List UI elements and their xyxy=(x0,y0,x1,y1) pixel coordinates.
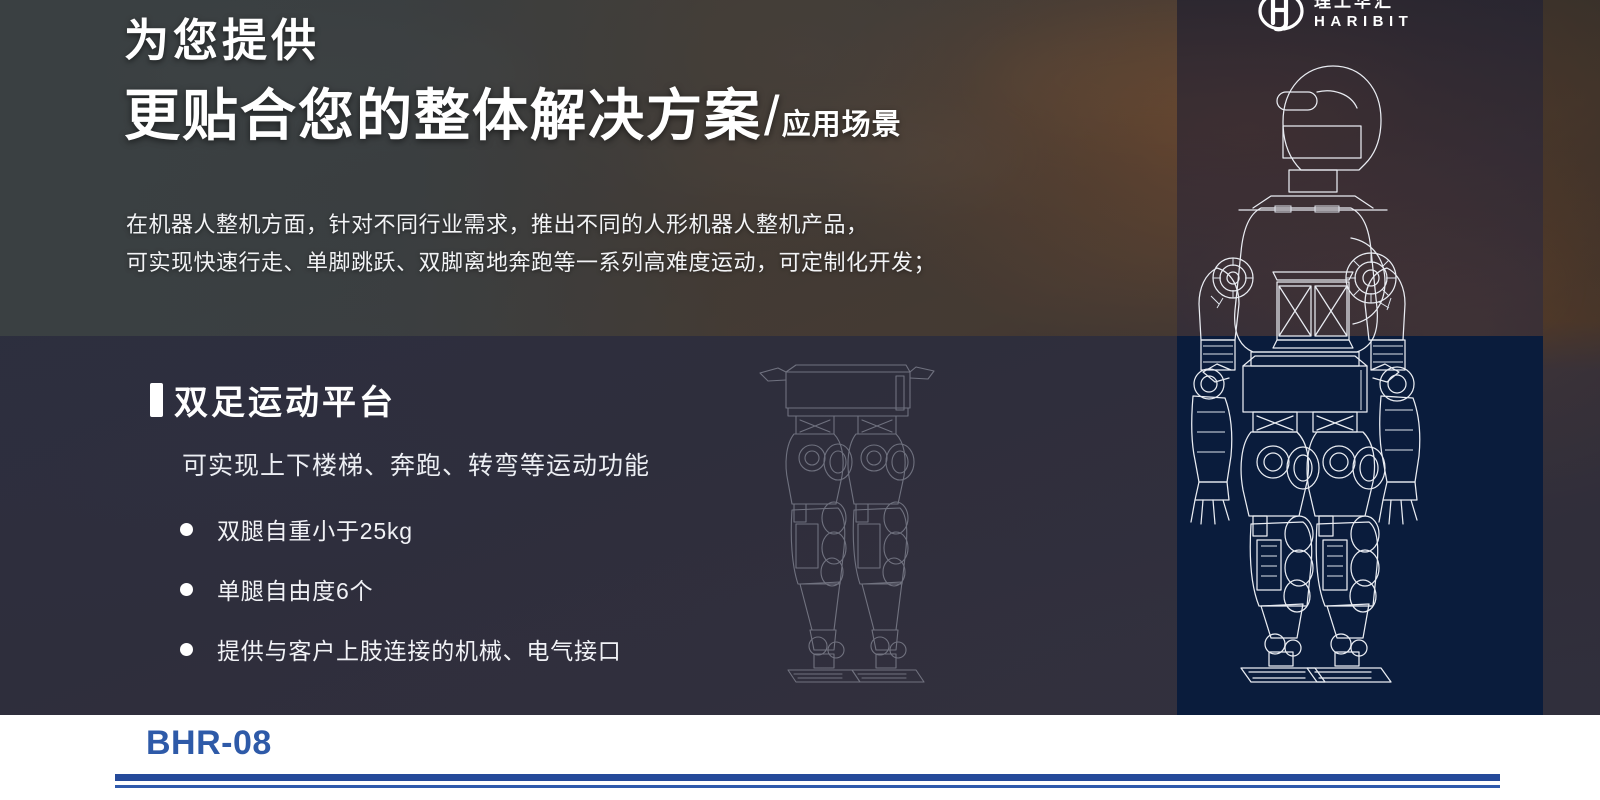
feature-section-subtitle: 可实现上下楼梯、奔跑、转弯等运动功能 xyxy=(182,446,910,482)
hero-panel: 理工华汇 HARIBIT 为您提供 更贴合您的整体解决方案 / 应用场景 在机器… xyxy=(0,0,1600,715)
headline-separator: / xyxy=(764,87,780,146)
humanoid-robot-line-art xyxy=(1165,30,1495,690)
brand-name-en: HARIBIT xyxy=(1314,14,1413,29)
footer: BHR-08 xyxy=(0,715,1600,800)
list-item: 双腿自重小于25kg xyxy=(180,512,910,546)
lead-paragraph: 在机器人整机方面，针对不同行业需求，推出不同的人形机器人整机产品， 可实现快速行… xyxy=(126,206,1136,282)
headline-line2: 更贴合您的整体解决方案 xyxy=(124,87,762,146)
bullet-text: 单腿自由度6个 xyxy=(217,572,373,606)
headline-line1: 为您提供 xyxy=(124,14,1124,67)
list-item: 提供与客户上肢连接的机械、电气接口 xyxy=(180,632,910,666)
tint-block-far-right xyxy=(1543,0,1600,715)
headline-block: 为您提供 更贴合您的整体解决方案 / 应用场景 xyxy=(124,14,1124,146)
bullet-text: 提供与客户上肢连接的机械、电气接口 xyxy=(217,632,622,666)
feature-bullet-list: 双腿自重小于25kg 单腿自由度6个 提供与客户上肢连接的机械、电气接口 xyxy=(180,512,910,666)
feature-section-title: 双足运动平台 xyxy=(174,375,396,424)
bullet-text: 双腿自重小于25kg xyxy=(217,512,413,546)
slide-root: 理工华汇 HARIBIT 为您提供 更贴合您的整体解决方案 / 应用场景 在机器… xyxy=(0,0,1600,800)
vertical-bar-marker-icon xyxy=(150,383,163,417)
feature-section: 双足运动平台 可实现上下楼梯、奔跑、转弯等运动功能 双腿自重小于25kg 单腿自… xyxy=(150,375,910,692)
lead-line-2: 可实现快速行走、单脚跳跃、双脚离地奔跑等一系列高难度运动，可定制化开发； xyxy=(126,244,1136,282)
brand-name-cn: 理工华汇 xyxy=(1314,0,1413,11)
haribit-h-monogram-icon xyxy=(1258,0,1304,34)
footer-rule-thick xyxy=(115,774,1500,781)
bullet-dot-icon xyxy=(180,583,193,596)
headline-line2-row: 更贴合您的整体解决方案 / 应用场景 xyxy=(124,87,1124,146)
brand-logo-text: 理工华汇 HARIBIT xyxy=(1314,0,1413,29)
lead-line-1: 在机器人整机方面，针对不同行业需求，推出不同的人形机器人整机产品， xyxy=(126,206,1136,244)
bullet-dot-icon xyxy=(180,643,193,656)
headline-tag: 应用场景 xyxy=(782,111,902,146)
footer-rule-thin xyxy=(115,785,1500,788)
brand-logo: 理工华汇 HARIBIT xyxy=(1258,0,1448,38)
model-code: BHR-08 xyxy=(146,724,272,763)
bullet-dot-icon xyxy=(180,523,193,536)
list-item: 单腿自由度6个 xyxy=(180,572,910,606)
feature-section-title-row: 双足运动平台 xyxy=(150,375,910,424)
